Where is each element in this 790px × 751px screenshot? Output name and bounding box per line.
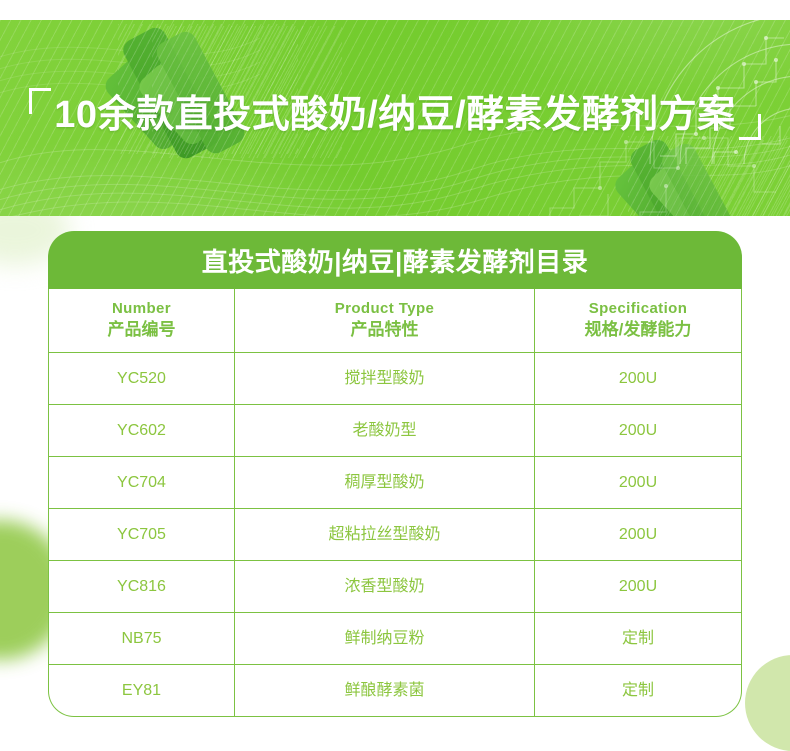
- cell-number-text: NB75: [121, 629, 161, 648]
- decorative-circle-bottom-right: [745, 655, 790, 751]
- column-header-number-cn: 产品编号: [108, 319, 176, 341]
- column-header-number-en: Number: [112, 300, 171, 319]
- cell-number-text: YC816: [117, 577, 166, 596]
- header-banner: 10余款直投式酸奶/纳豆/酵素发酵剂方案: [0, 20, 790, 216]
- banner-title-text: 10余款直投式酸奶/纳豆/酵素发酵剂方案: [54, 94, 735, 136]
- table-row: YC705 超粘拉丝型酸奶 200U: [49, 509, 741, 561]
- table-row: YC816 浓香型酸奶 200U: [49, 561, 741, 613]
- banner-title-wrap: 10余款直投式酸奶/纳豆/酵素发酵剂方案: [0, 20, 790, 216]
- cell-spec-text: 200U: [619, 369, 657, 388]
- cell-spec-text: 200U: [619, 525, 657, 544]
- table-row: EY81 鲜酿酵素菌 定制: [49, 665, 741, 716]
- table-title: 直投式酸奶|纳豆|酵素发酵剂目录: [202, 242, 589, 279]
- cell-spec-text: 定制: [622, 629, 654, 648]
- cell-spec-text: 200U: [619, 577, 657, 596]
- cell-type-text: 稠厚型酸奶: [344, 473, 424, 492]
- cell-type: 老酸奶型: [235, 405, 535, 456]
- table-header-row: Number 产品编号 Product Type 产品特性 Specificat…: [49, 289, 741, 353]
- bracket-close-icon: [739, 114, 761, 140]
- cell-number: YC602: [49, 405, 235, 456]
- cell-number-text: YC602: [117, 421, 166, 440]
- table-row: NB75 鲜制纳豆粉 定制: [49, 613, 741, 665]
- cell-type: 浓香型酸奶: [235, 561, 535, 612]
- cell-type-text: 鲜酿酵素菌: [344, 681, 424, 700]
- cell-type: 搅拌型酸奶: [235, 353, 535, 404]
- cell-spec-text: 定制: [622, 681, 654, 700]
- column-header-product-type: Product Type 产品特性: [235, 289, 535, 352]
- cell-type-text: 鲜制纳豆粉: [344, 629, 424, 648]
- banner-title-line: 10余款直投式酸奶/纳豆/酵素发酵剂方案: [29, 96, 760, 140]
- cell-number-text: YC705: [117, 525, 166, 544]
- column-header-product-type-en: Product Type: [335, 300, 435, 319]
- cell-spec: 200U: [535, 353, 741, 404]
- column-header-specification-cn: 规格/发酵能力: [585, 319, 692, 341]
- table-row: YC602 老酸奶型 200U: [49, 405, 741, 457]
- column-header-specification: Specification 规格/发酵能力: [535, 289, 741, 352]
- cell-type: 超粘拉丝型酸奶: [235, 509, 535, 560]
- cell-spec: 200U: [535, 405, 741, 456]
- cell-type-text: 老酸奶型: [352, 421, 416, 440]
- cell-number: EY81: [49, 665, 235, 716]
- product-catalog-table: 直投式酸奶|纳豆|酵素发酵剂目录 Number 产品编号 Product Typ…: [48, 231, 742, 717]
- cell-type-text: 超粘拉丝型酸奶: [328, 525, 440, 544]
- cell-spec: 定制: [535, 613, 741, 664]
- cell-spec-text: 200U: [619, 421, 657, 440]
- column-header-product-type-cn: 产品特性: [351, 319, 419, 341]
- cell-type: 稠厚型酸奶: [235, 457, 535, 508]
- table-title-bar: 直投式酸奶|纳豆|酵素发酵剂目录: [48, 231, 742, 289]
- bracket-open-icon: [29, 88, 51, 114]
- cell-spec: 定制: [535, 665, 741, 716]
- cell-type: 鲜制纳豆粉: [235, 613, 535, 664]
- cell-number-text: YC704: [117, 473, 166, 492]
- column-header-number: Number 产品编号: [49, 289, 235, 352]
- cell-spec: 200U: [535, 561, 741, 612]
- table-row: YC520 搅拌型酸奶 200U: [49, 353, 741, 405]
- cell-type: 鲜酿酵素菌: [235, 665, 535, 716]
- cell-number: YC704: [49, 457, 235, 508]
- cell-spec: 200U: [535, 509, 741, 560]
- cell-number: YC816: [49, 561, 235, 612]
- cell-type-text: 搅拌型酸奶: [344, 369, 424, 388]
- cell-number: NB75: [49, 613, 235, 664]
- table-row: YC704 稠厚型酸奶 200U: [49, 457, 741, 509]
- cell-number-text: YC520: [117, 369, 166, 388]
- cell-spec: 200U: [535, 457, 741, 508]
- cell-spec-text: 200U: [619, 473, 657, 492]
- table-body: Number 产品编号 Product Type 产品特性 Specificat…: [48, 289, 742, 717]
- cell-number: YC520: [49, 353, 235, 404]
- cell-number: YC705: [49, 509, 235, 560]
- column-header-specification-en: Specification: [589, 300, 688, 319]
- cell-number-text: EY81: [122, 681, 161, 700]
- cell-type-text: 浓香型酸奶: [344, 577, 424, 596]
